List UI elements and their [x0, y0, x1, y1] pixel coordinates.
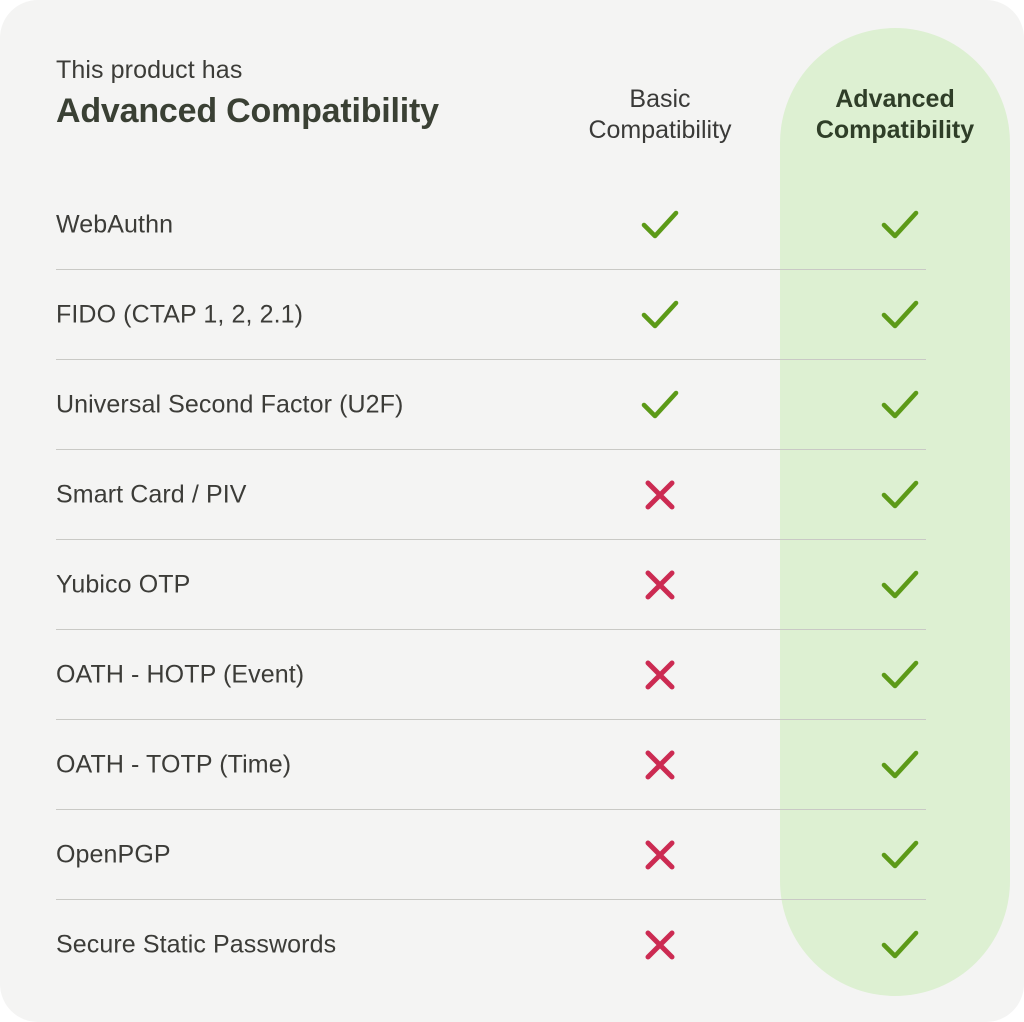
check-icon: [880, 388, 920, 422]
column-header-basic-line1: Basic: [629, 85, 690, 113]
support-cell-advanced: [870, 742, 930, 788]
column-header-basic: Basic Compatibility: [545, 84, 775, 145]
feature-label: OpenPGP: [56, 841, 171, 870]
column-header-advanced-line2: Compatibility: [780, 115, 1010, 146]
table-row: Yubico OTP: [0, 540, 1024, 630]
column-header-basic-line2: Compatibility: [545, 115, 775, 146]
support-cell-basic: [630, 832, 690, 878]
support-cell-advanced: [870, 472, 930, 518]
table-header: This product has Advanced Compatibility …: [0, 0, 1024, 180]
support-cell-advanced: [870, 922, 930, 968]
feature-label: OATH - HOTP (Event): [56, 661, 304, 690]
cross-icon: [643, 748, 677, 782]
page-title: Advanced Compatibility: [56, 89, 576, 133]
cross-icon: [643, 568, 677, 602]
feature-label: Yubico OTP: [56, 571, 190, 600]
table-row: OpenPGP: [0, 810, 1024, 900]
compatibility-comparison-page: This product has Advanced Compatibility …: [0, 0, 1024, 1022]
support-cell-basic: [630, 922, 690, 968]
check-icon: [880, 838, 920, 872]
table-row: Universal Second Factor (U2F): [0, 360, 1024, 450]
check-icon: [640, 208, 680, 242]
table-row: Smart Card / PIV: [0, 450, 1024, 540]
cross-icon: [643, 928, 677, 962]
check-icon: [880, 568, 920, 602]
feature-label: FIDO (CTAP 1, 2, 2.1): [56, 301, 303, 330]
check-icon: [880, 478, 920, 512]
support-cell-basic: [630, 202, 690, 248]
check-icon: [880, 298, 920, 332]
title-block: This product has Advanced Compatibility: [56, 56, 576, 133]
support-cell-advanced: [870, 292, 930, 338]
table-row: Secure Static Passwords: [0, 900, 1024, 990]
support-cell-advanced: [870, 202, 930, 248]
check-icon: [880, 748, 920, 782]
feature-label: Universal Second Factor (U2F): [56, 391, 403, 420]
feature-label: Smart Card / PIV: [56, 481, 247, 510]
cross-icon: [643, 658, 677, 692]
support-cell-basic: [630, 652, 690, 698]
check-icon: [880, 208, 920, 242]
column-header-advanced: Advanced Compatibility: [780, 84, 1010, 145]
check-icon: [880, 658, 920, 692]
table-row: OATH - HOTP (Event): [0, 630, 1024, 720]
support-cell-basic: [630, 562, 690, 608]
feature-label: Secure Static Passwords: [56, 931, 336, 960]
comparison-content: This product has Advanced Compatibility …: [0, 0, 1024, 1022]
support-cell-advanced: [870, 562, 930, 608]
support-cell-basic: [630, 742, 690, 788]
table-row: WebAuthn: [0, 180, 1024, 270]
support-cell-basic: [630, 472, 690, 518]
support-cell-advanced: [870, 652, 930, 698]
table-row: FIDO (CTAP 1, 2, 2.1): [0, 270, 1024, 360]
cross-icon: [643, 838, 677, 872]
check-icon: [880, 928, 920, 962]
feature-rows: WebAuthnFIDO (CTAP 1, 2, 2.1)Universal S…: [0, 180, 1024, 990]
support-cell-advanced: [870, 382, 930, 428]
column-header-advanced-line1: Advanced: [835, 85, 954, 113]
support-cell-advanced: [870, 832, 930, 878]
table-row: OATH - TOTP (Time): [0, 720, 1024, 810]
cross-icon: [643, 478, 677, 512]
feature-label: WebAuthn: [56, 211, 173, 240]
check-icon: [640, 388, 680, 422]
title-eyebrow: This product has: [56, 56, 576, 85]
support-cell-basic: [630, 292, 690, 338]
check-icon: [640, 298, 680, 332]
feature-label: OATH - TOTP (Time): [56, 751, 291, 780]
support-cell-basic: [630, 382, 690, 428]
